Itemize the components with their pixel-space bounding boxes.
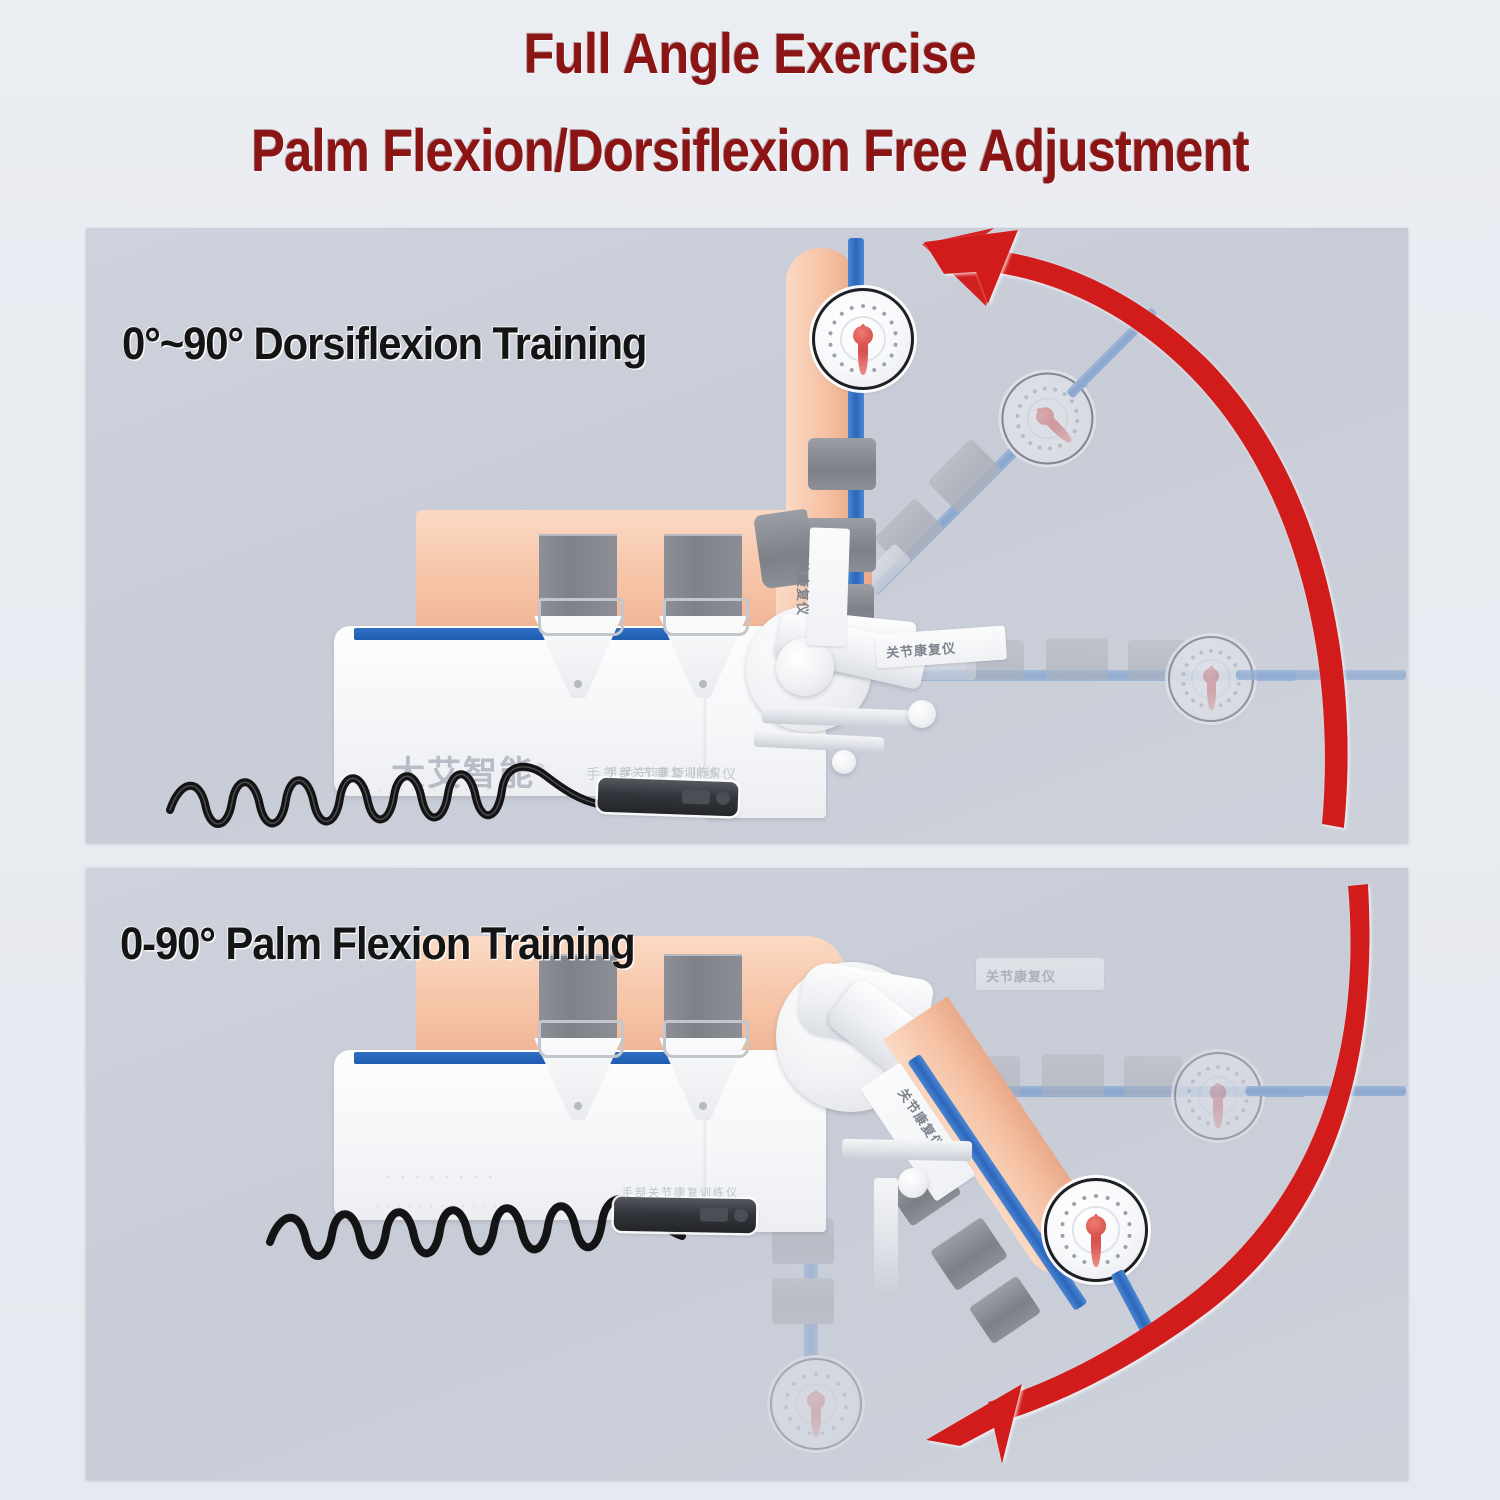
- panel-dorsiflexion: 0°~90° Dorsiflexion Training: [86, 228, 1408, 843]
- heading-block: Full Angle Exercise Palm Flexion/Dorsifl…: [0, 22, 1500, 185]
- page-title-line2: Palm Flexion/Dorsiflexion Free Adjustmen…: [105, 118, 1395, 186]
- panel-palm-flexion: 0-90° Palm Flexion Training: [86, 868, 1408, 1480]
- panel-label-dorsiflexion: 0°~90° Dorsiflexion Training: [122, 318, 646, 370]
- infographic-page: Full Angle Exercise Palm Flexion/Dorsifl…: [0, 0, 1500, 1500]
- panel-label-palm-flexion: 0-90° Palm Flexion Training: [120, 918, 635, 970]
- page-title-line1: Full Angle Exercise: [90, 22, 1410, 88]
